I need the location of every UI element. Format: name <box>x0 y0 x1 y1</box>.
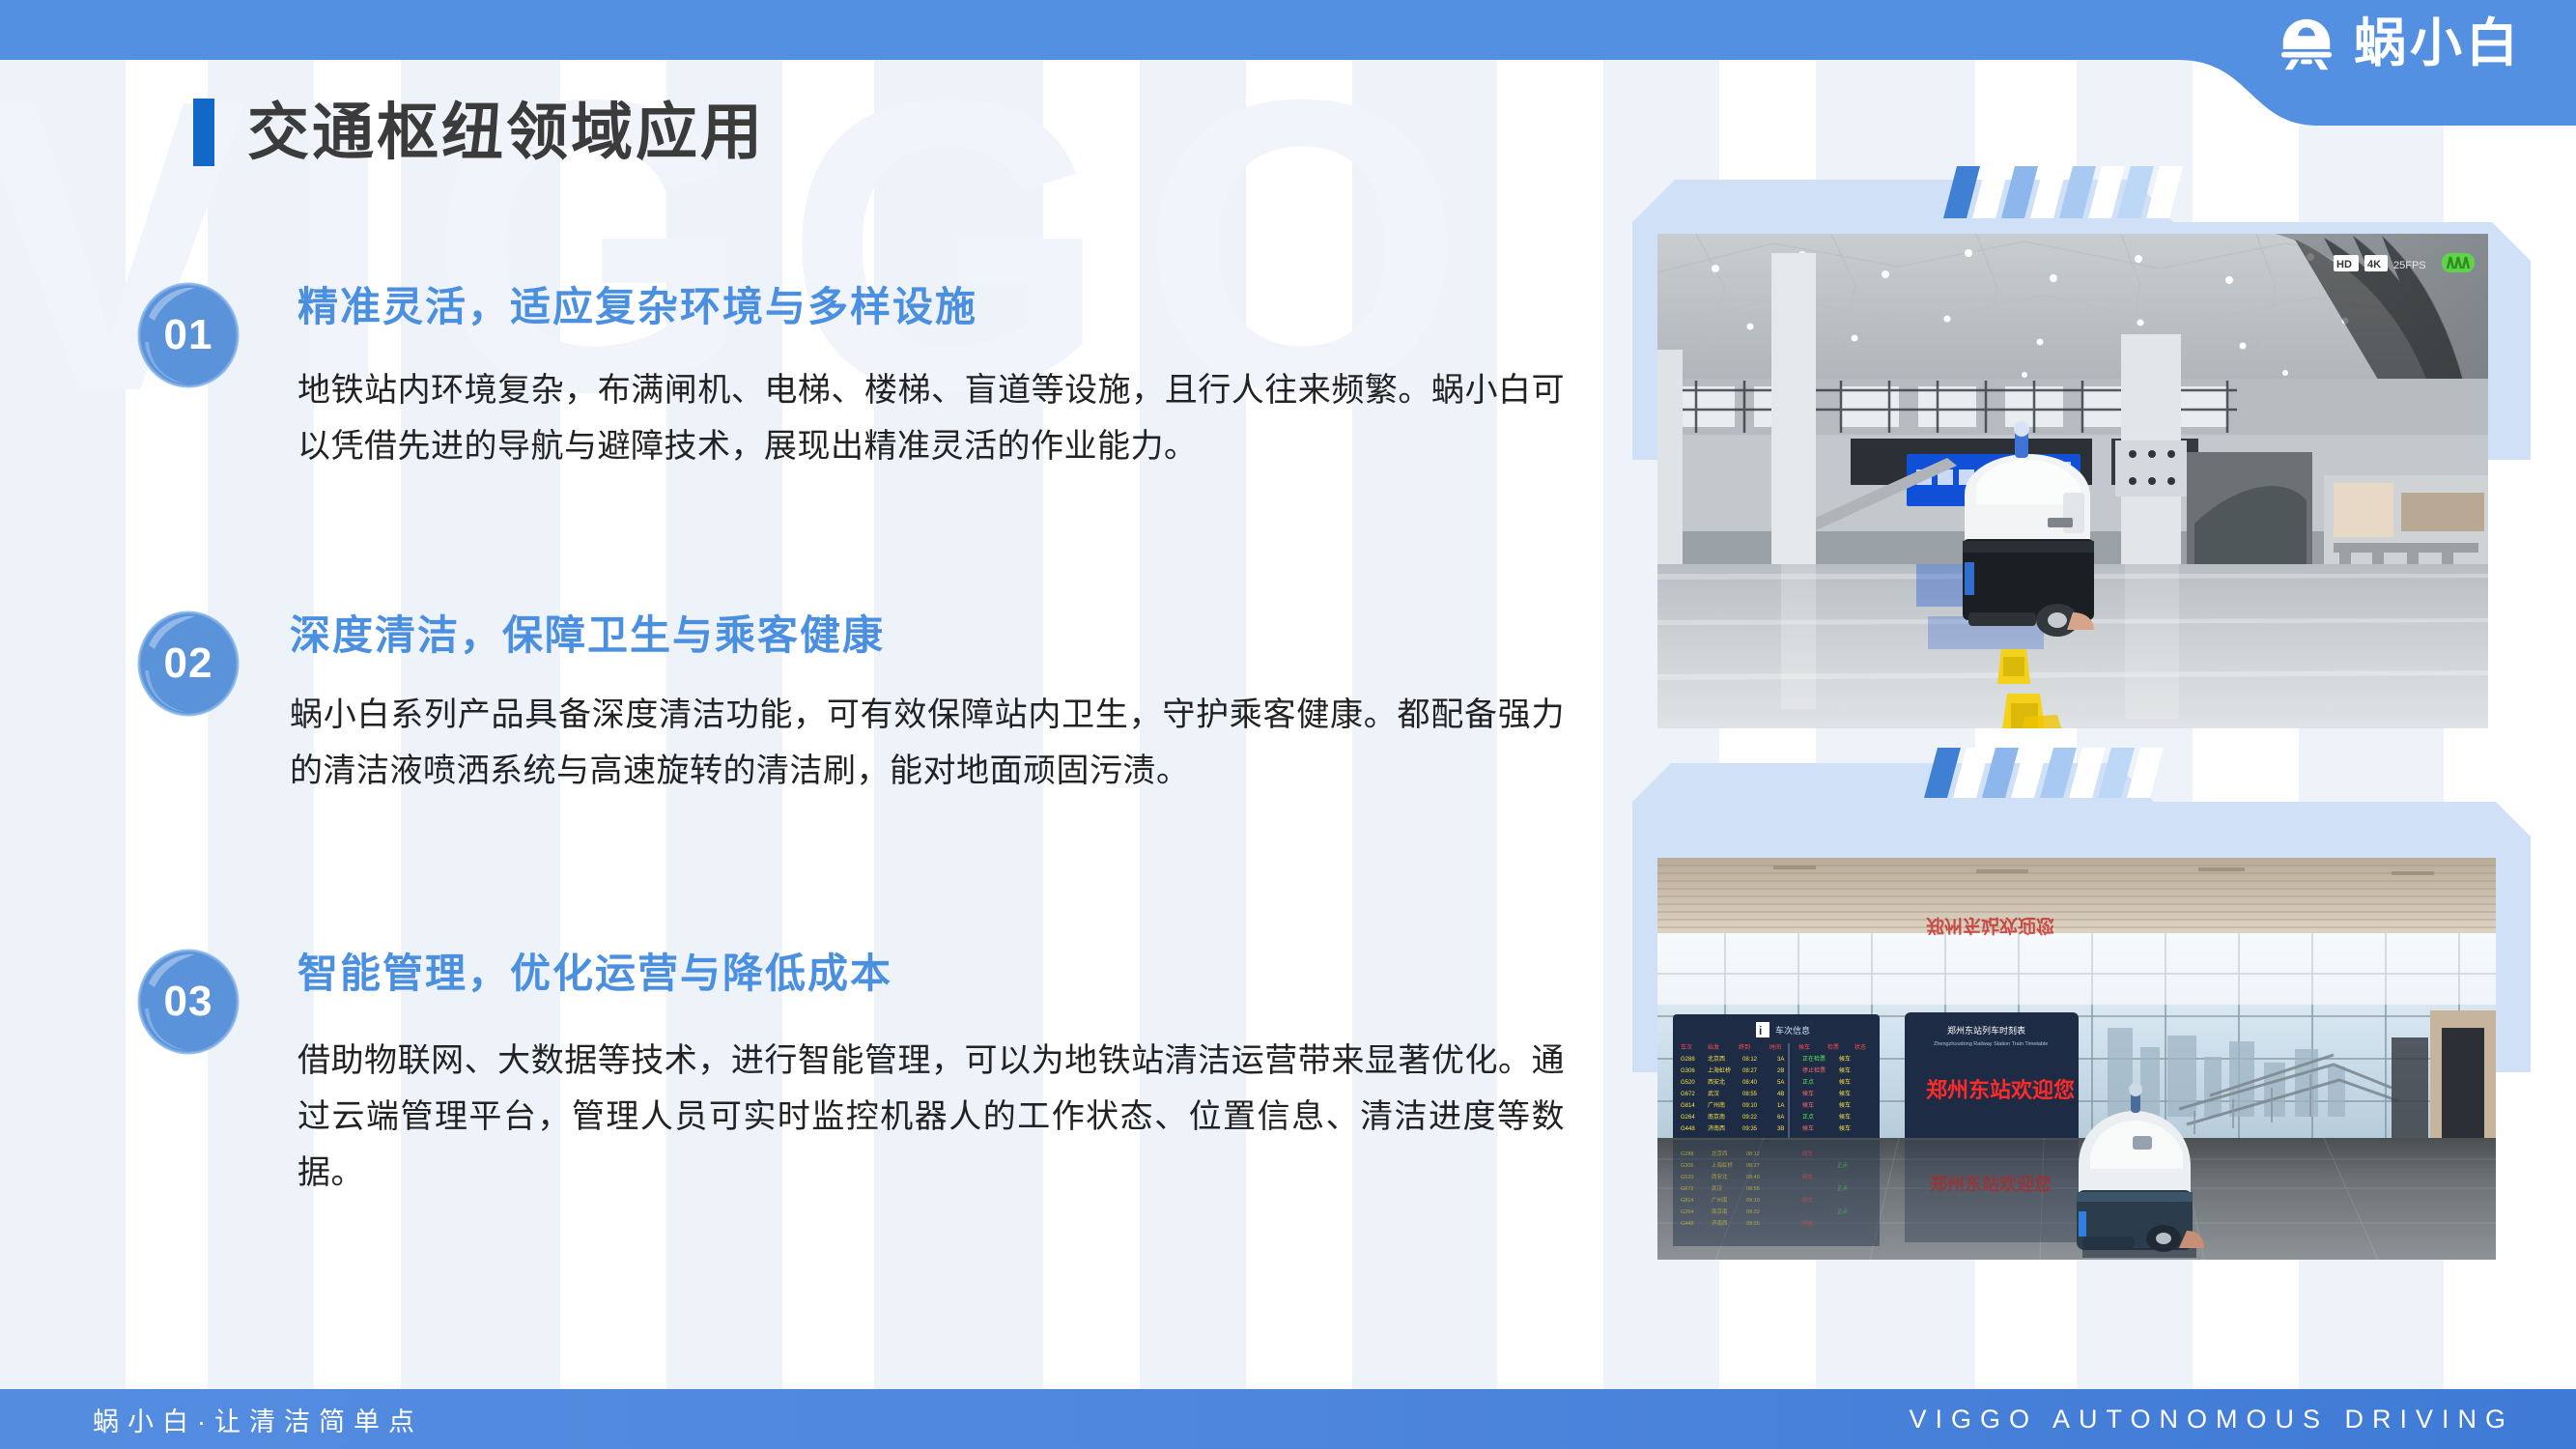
svg-text:终到: 终到 <box>1739 1043 1750 1051</box>
svg-text:G264: G264 <box>1681 1209 1693 1215</box>
svg-text:09:10: 09:10 <box>1746 1198 1760 1204</box>
svg-text:08:12: 08:12 <box>1746 1151 1760 1157</box>
list-item-description: 蜗小白系列产品具备深度清洁功能，可有效保障站内卫生，守护乘客健康。都配备强力的清… <box>290 687 1565 800</box>
svg-text:车次信息: 车次信息 <box>1775 1025 1810 1036</box>
svg-text:G306: G306 <box>1681 1163 1693 1169</box>
svg-text:2B: 2B <box>1777 1068 1784 1074</box>
svg-text:08:40: 08:40 <box>1746 1175 1760 1180</box>
svg-text:北京西: 北京西 <box>1712 1150 1728 1157</box>
svg-text:候车: 候车 <box>1802 1150 1814 1157</box>
number-badge: 02 <box>135 611 241 717</box>
svg-text:25FPS: 25FPS <box>2393 260 2426 271</box>
list-item-heading: 深度清洁，保障卫生与乘客健康 <box>290 611 1565 662</box>
decor-stripes-bottom <box>1922 746 2173 802</box>
svg-text:正点: 正点 <box>1837 1208 1849 1215</box>
brand-name: 蜗小白 <box>2354 17 2522 70</box>
svg-text:G814: G814 <box>1681 1198 1693 1204</box>
content-list: 01 精准灵活，适应复杂环境与多样设施 地铁站内环境复杂，布满闸机、电梯、楼梯、… <box>0 0 1603 1449</box>
svg-text:3B: 3B <box>1777 1126 1784 1132</box>
svg-text:候车: 候车 <box>1802 1196 1814 1204</box>
svg-text:正点: 正点 <box>1837 1185 1849 1192</box>
svg-text:Zhengzhoudong Railway Station: Zhengzhoudong Railway Station Train Time… <box>1934 1041 2048 1047</box>
footer-bar: 蜗小白·让清洁简单点 VIGGO AUTONOMOUS DRIVING <box>0 1389 2576 1449</box>
svg-text:郑州东站欢迎您: 郑州东站欢迎您 <box>1926 915 2054 937</box>
svg-text:G306: G306 <box>1681 1068 1695 1074</box>
number-badge-label: 01 <box>164 311 213 359</box>
svg-text:郑州东站列车时刻表: 郑州东站列车时刻表 <box>1947 1025 2025 1036</box>
svg-text:4K: 4K <box>2367 259 2381 270</box>
svg-text:候车: 候车 <box>1798 1043 1810 1051</box>
footer-brand-en: VIGGO AUTONOMOUS DRIVING <box>1909 1405 2514 1435</box>
svg-text:候车: 候车 <box>1802 1090 1814 1097</box>
svg-text:08:40: 08:40 <box>1742 1080 1758 1086</box>
svg-text:南京南: 南京南 <box>1712 1207 1728 1215</box>
svg-text:候车: 候车 <box>1839 1066 1851 1074</box>
svg-text:G520: G520 <box>1681 1080 1695 1086</box>
svg-text:西安北: 西安北 <box>1708 1078 1725 1086</box>
number-badge-label: 02 <box>164 639 213 688</box>
svg-text:检票: 检票 <box>1827 1043 1839 1051</box>
svg-text:08:27: 08:27 <box>1746 1163 1760 1169</box>
svg-text:济南西: 济南西 <box>1712 1219 1728 1227</box>
svg-text:广州南: 广州南 <box>1708 1101 1725 1109</box>
svg-text:G520: G520 <box>1681 1175 1693 1180</box>
list-item-heading: 精准灵活，适应复杂环境与多样设施 <box>297 282 1565 333</box>
svg-text:郑州东站欢迎您: 郑州东站欢迎您 <box>1926 1078 2075 1102</box>
svg-text:G288: G288 <box>1681 1151 1693 1157</box>
svg-text:08:55: 08:55 <box>1746 1186 1760 1192</box>
footer-slogan: 蜗小白·让清洁简单点 <box>93 1401 423 1438</box>
svg-text:武汉: 武汉 <box>1708 1090 1719 1097</box>
svg-text:广州南: 广州南 <box>1712 1196 1728 1204</box>
svg-text:南京南: 南京南 <box>1708 1113 1725 1121</box>
svg-text:09:22: 09:22 <box>1746 1209 1760 1215</box>
svg-text:候车: 候车 <box>1839 1124 1851 1132</box>
svg-text:G672: G672 <box>1681 1092 1695 1097</box>
svg-text:3A: 3A <box>1777 1057 1784 1063</box>
svg-text:08:27: 08:27 <box>1742 1068 1758 1074</box>
list-item-description: 借助物联网、大数据等技术，进行智能管理，可以为地铁站清洁运营带来显著优化。通过云… <box>297 1033 1565 1202</box>
svg-text:上海虹桥: 上海虹桥 <box>1708 1066 1731 1074</box>
svg-text:候车: 候车 <box>1839 1113 1851 1121</box>
svg-text:上海虹桥: 上海虹桥 <box>1712 1161 1734 1169</box>
svg-text:车次: 车次 <box>1681 1043 1692 1051</box>
svg-text:候车: 候车 <box>1839 1101 1851 1109</box>
list-item-heading: 智能管理，优化运营与降低成本 <box>297 949 1565 1000</box>
svg-text:正点: 正点 <box>1802 1078 1814 1086</box>
svg-text:G814: G814 <box>1681 1103 1695 1109</box>
brand-logo: 蜗小白 <box>2277 14 2522 73</box>
svg-text:HD: HD <box>2336 259 2352 270</box>
svg-text:正点: 正点 <box>1802 1113 1814 1121</box>
svg-text:09:35: 09:35 <box>1742 1126 1758 1132</box>
svg-text:候车: 候车 <box>1802 1219 1814 1227</box>
decor-stripes-top <box>1941 162 2193 222</box>
list-item: 02 深度清洁，保障卫生与乘客健康 蜗小白系列产品具备深度清洁功能，可有效保障站… <box>135 611 1565 799</box>
svg-text:武汉: 武汉 <box>1712 1184 1723 1192</box>
photo-zhengzhou-east-station: i 车次信息 车次始发终到时间 候车检票状态 G288北京西08:123A G3… <box>1657 858 2496 1260</box>
number-badge: 01 <box>135 282 241 388</box>
svg-text:G288: G288 <box>1681 1057 1695 1063</box>
svg-text:候车: 候车 <box>1802 1124 1814 1132</box>
svg-text:时间: 时间 <box>1769 1043 1781 1051</box>
svg-text:候车: 候车 <box>1802 1101 1814 1109</box>
list-item: 01 精准灵活，适应复杂环境与多样设施 地铁站内环境复杂，布满闸机、电梯、楼梯、… <box>135 282 1565 474</box>
svg-text:4B: 4B <box>1777 1092 1784 1097</box>
snail-dome-logo-icon <box>2277 14 2336 73</box>
svg-text:08:55: 08:55 <box>1742 1092 1758 1097</box>
svg-text:候车: 候车 <box>1802 1173 1814 1180</box>
svg-text:郑州东站欢迎您: 郑州东站欢迎您 <box>1930 1174 2052 1194</box>
svg-text:09:10: 09:10 <box>1742 1103 1758 1109</box>
list-item-description: 地铁站内环境复杂，布满闸机、电梯、楼梯、盲道等设施，且行人往来频繁。蜗小白可以凭… <box>297 362 1565 475</box>
svg-text:候车: 候车 <box>1839 1090 1851 1097</box>
svg-text:济南西: 济南西 <box>1708 1124 1725 1132</box>
number-badge: 03 <box>135 949 241 1055</box>
svg-text:G672: G672 <box>1681 1186 1693 1192</box>
svg-text:候车: 候车 <box>1839 1055 1851 1063</box>
svg-text:G448: G448 <box>1681 1221 1693 1227</box>
list-item: 03 智能管理，优化运营与降低成本 借助物联网、大数据等技术，进行智能管理，可以… <box>135 949 1565 1202</box>
svg-text:北京西: 北京西 <box>1708 1055 1725 1063</box>
svg-text:G264: G264 <box>1681 1115 1695 1121</box>
photo-railway-station-hall: HD 4K 25FPS <box>1657 234 2488 728</box>
svg-text:09:35: 09:35 <box>1746 1221 1760 1227</box>
svg-text:停止检票: 停止检票 <box>1802 1066 1826 1074</box>
svg-text:状态: 状态 <box>1854 1043 1866 1051</box>
svg-text:08:12: 08:12 <box>1742 1057 1758 1063</box>
svg-text:正在检票: 正在检票 <box>1802 1055 1826 1063</box>
svg-text:6A: 6A <box>1777 1115 1784 1121</box>
svg-text:候车: 候车 <box>1839 1078 1851 1086</box>
svg-text:09:22: 09:22 <box>1742 1115 1758 1121</box>
svg-text:1A: 1A <box>1777 1103 1784 1109</box>
number-badge-label: 03 <box>164 978 213 1026</box>
svg-text:i: i <box>1759 1024 1762 1037</box>
svg-text:正点: 正点 <box>1837 1162 1849 1169</box>
svg-text:始发: 始发 <box>1708 1043 1719 1051</box>
svg-text:G448: G448 <box>1681 1126 1695 1132</box>
svg-text:西安北: 西安北 <box>1712 1173 1728 1180</box>
svg-text:5A: 5A <box>1777 1080 1784 1086</box>
